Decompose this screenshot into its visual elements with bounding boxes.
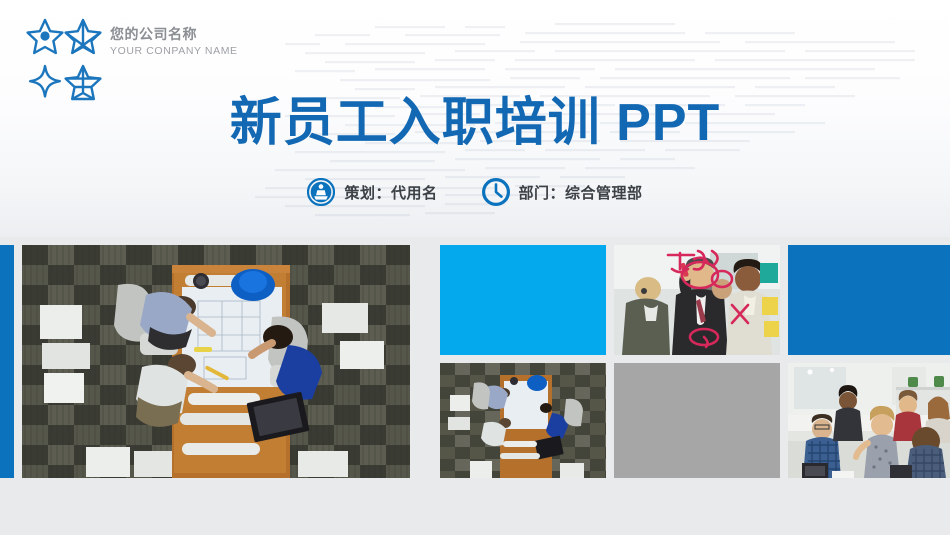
glass-wall-brainstorm-photo-svg (614, 245, 780, 355)
photo-grid (0, 237, 950, 482)
logo-center-dot (40, 31, 49, 40)
clock-icon (482, 178, 510, 206)
overhead-meeting-photo-large-svg (22, 245, 410, 478)
meta-label-planner: 策划：代用名 (344, 182, 437, 203)
presenter-podium-icon (307, 178, 335, 206)
overhead-meeting-photo-large (22, 245, 410, 478)
slide-header: 您的公司名称 YOUR CONPANY NAME 新员工入职培训 PPT 策划：… (0, 0, 950, 237)
left-blue-edge-bar (0, 245, 14, 478)
page-title: 新员工入职培训 PPT (0, 92, 950, 154)
meta-label-department: 部门：综合管理部 (519, 182, 643, 203)
overhead-meeting-photo-small-svg (440, 363, 606, 478)
blue-color-block (788, 245, 950, 355)
gray-color-block (614, 363, 780, 478)
company-name-block: 您的公司名称 YOUR CONPANY NAME (110, 26, 310, 58)
office-lounge-meeting-photo (788, 363, 950, 478)
office-lounge-meeting-photo-svg (788, 363, 950, 478)
overhead-meeting-photo-small (440, 363, 606, 478)
presentation-slide: 您的公司名称 YOUR CONPANY NAME 新员工入职培训 PPT 策划：… (0, 0, 950, 535)
glass-wall-brainstorm-photo (614, 245, 780, 355)
company-name-cn: 您的公司名称 (110, 26, 310, 43)
company-name-en: YOUR CONPANY NAME (110, 44, 310, 58)
meta-item-department: 部门：综合管理部 (482, 178, 643, 206)
cyan-color-block (440, 245, 606, 355)
slide-footer (0, 482, 950, 535)
meta-row: 策划：代用名 部门：综合管理部 (0, 178, 950, 206)
meta-item-planner: 策划：代用名 (307, 178, 437, 206)
